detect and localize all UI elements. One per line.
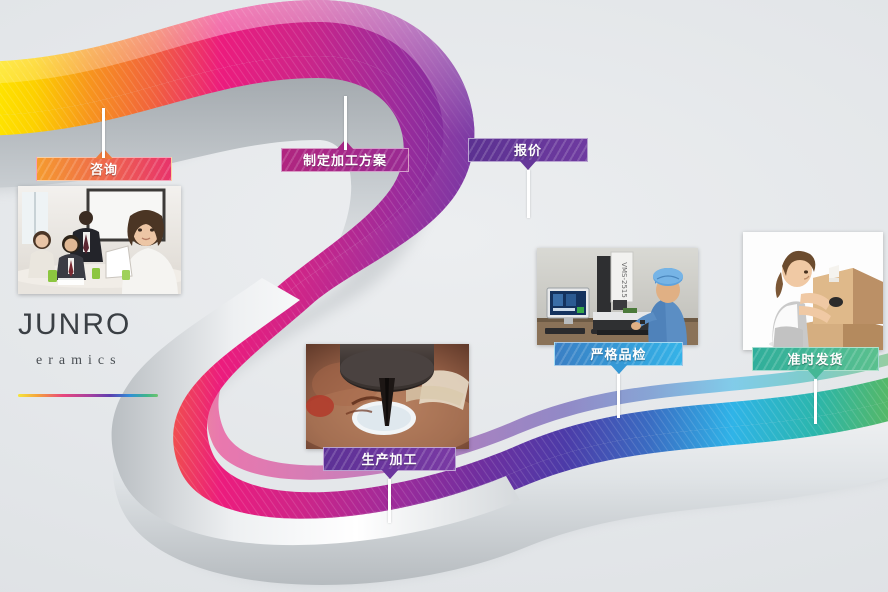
step-label-quotation[interactable]: 报价: [468, 138, 588, 162]
step-label-delivery[interactable]: 准时发货: [752, 347, 879, 371]
step-label-text: 生产加工: [361, 453, 417, 466]
stem-step-6: [814, 379, 817, 424]
stem-step-2: [344, 96, 347, 150]
step-label-processing-plan[interactable]: 制定加工方案: [281, 148, 409, 172]
step-label-text: 咨询: [90, 163, 118, 176]
step-label-consultation[interactable]: 咨询: [36, 157, 172, 181]
logo-gradient-rule: [18, 394, 158, 397]
business-meeting-illustration: [18, 186, 181, 294]
svg-text:VMS-2515: VMS-2515: [620, 262, 628, 298]
cnc-drill-illustration: [306, 344, 469, 449]
label-arrow-down-icon: [610, 364, 628, 374]
step-label-text: 严格品检: [590, 348, 646, 361]
logo-subtitle: eramics: [36, 354, 178, 368]
photo-production: [306, 344, 469, 449]
photo-inspection: VMS-2515: [537, 248, 698, 345]
inspection-lab-illustration: VMS-2515: [537, 248, 698, 345]
step-label-production[interactable]: 生产加工: [323, 447, 456, 471]
step-label-text: 报价: [514, 144, 542, 157]
photo-consultation: [18, 186, 181, 294]
stem-step-4: [388, 479, 391, 523]
logo-wordmark: JUNRO: [18, 310, 178, 340]
brand-logo: JUNRO eramics: [18, 310, 178, 397]
stem-step-3: [527, 170, 530, 218]
step-label-inspection[interactable]: 严格品检: [554, 342, 683, 366]
stem-step-1: [102, 108, 105, 158]
label-arrow-down-icon: [519, 160, 537, 170]
label-arrow-down-icon: [381, 469, 399, 479]
photo-delivery: [743, 232, 883, 350]
step-label-text: 制定加工方案: [303, 154, 387, 167]
step-label-text: 准时发货: [787, 353, 843, 366]
stem-step-5: [617, 374, 620, 418]
packing-boxes-illustration: [743, 232, 883, 350]
label-arrow-down-icon: [807, 369, 825, 379]
process-flow-infographic: VMS-2515: [0, 0, 888, 592]
